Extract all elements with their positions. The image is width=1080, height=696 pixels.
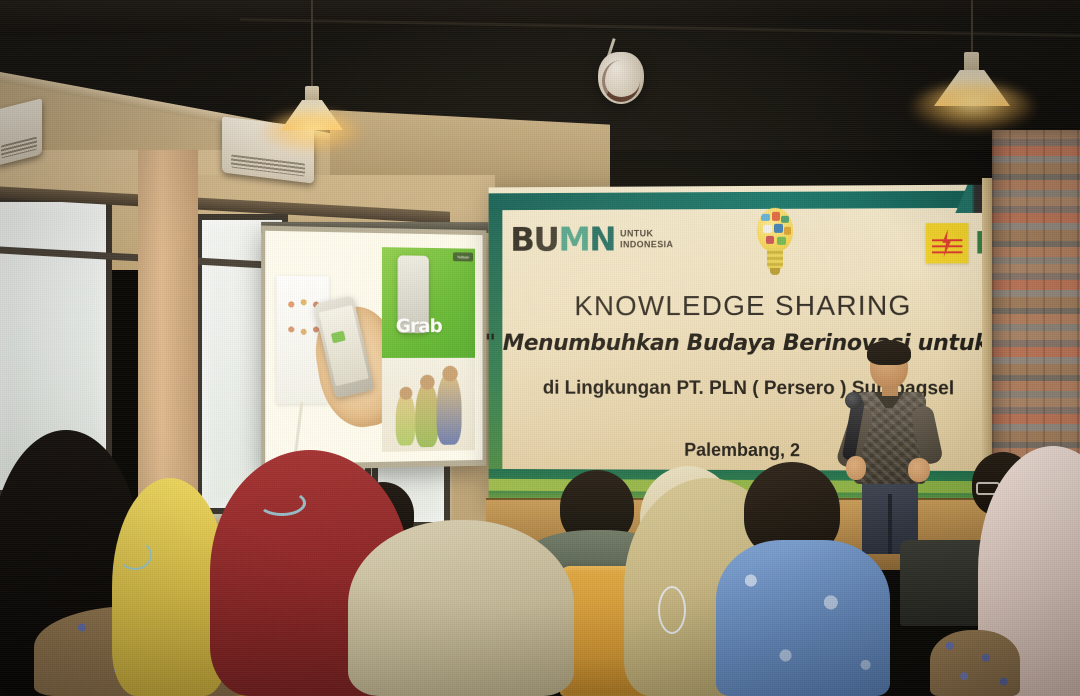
slide-person-a bbox=[396, 392, 416, 446]
bumn-letter-b: B bbox=[510, 225, 533, 255]
bumn-letter-m: M bbox=[558, 225, 589, 255]
attendee-batik-edge bbox=[930, 630, 1020, 696]
air-conditioner-far bbox=[0, 98, 42, 165]
speaker-hair bbox=[867, 340, 911, 365]
slide-grab-panel: Tulisan Grab bbox=[382, 247, 475, 359]
lightbulb-glass bbox=[757, 208, 793, 252]
slide-person-a-head bbox=[400, 387, 413, 400]
attendee-hijab bbox=[348, 520, 574, 696]
slide-person-c bbox=[437, 372, 462, 445]
speaker-left-hand bbox=[846, 456, 866, 480]
speaker-presenter bbox=[836, 344, 944, 552]
bumn-tagline-line1: UNTUK bbox=[620, 229, 673, 240]
pln-logo-box bbox=[926, 223, 969, 263]
slide-people-panel bbox=[382, 358, 475, 452]
slide-grab-tag: Tulisan bbox=[453, 252, 473, 261]
bumn-letter-n: N bbox=[589, 225, 615, 255]
event-photo-scene: Tulisan Grab BUMN UN bbox=[0, 0, 1080, 696]
pendant-neck-right bbox=[964, 52, 979, 72]
banner-title: KNOWLEDGE SHARING bbox=[489, 289, 1000, 322]
bumn-tagline-line2: INDONESIA bbox=[620, 239, 673, 250]
speaker-leg-split bbox=[888, 494, 892, 554]
slide-grab-wordmark: Grab bbox=[396, 315, 442, 337]
pendant-glow-left bbox=[262, 112, 362, 152]
spotlight-rim bbox=[602, 60, 640, 102]
projector-screen: Tulisan Grab bbox=[261, 226, 486, 471]
face-mask-strap bbox=[118, 540, 152, 570]
slide-person-c-head bbox=[442, 366, 457, 382]
bumn-letter-u: U bbox=[533, 225, 558, 255]
lightbulb-tip bbox=[770, 268, 780, 275]
slide-person-b-head bbox=[420, 375, 435, 390]
slide-phone-accent bbox=[331, 330, 347, 343]
face-mask-strap bbox=[258, 490, 306, 516]
lightbulb-base bbox=[767, 248, 783, 270]
presentation-slide: Tulisan Grab bbox=[265, 231, 482, 464]
pendant-neck-left bbox=[305, 86, 319, 102]
face-mask-strap bbox=[658, 586, 686, 634]
speaker-right-hand bbox=[908, 458, 930, 482]
bumn-wordmark: BUMN bbox=[510, 225, 615, 255]
microphone-head-icon bbox=[845, 392, 862, 409]
air-conditioner-vent bbox=[231, 154, 305, 176]
projector-screen-surface: Tulisan Grab bbox=[265, 231, 482, 464]
attendee-batik-shirt bbox=[716, 540, 890, 696]
pendant-glow-right bbox=[912, 84, 1034, 130]
bumn-tagline: UNTUK INDONESIA bbox=[620, 229, 673, 254]
pendant-cord-left bbox=[311, 0, 313, 86]
innovation-lightbulb-icon bbox=[754, 208, 796, 282]
bumn-logo: BUMN UNTUK INDONESIA bbox=[510, 224, 673, 254]
banner-top-stripe bbox=[489, 191, 1000, 211]
slide-person-b bbox=[415, 382, 438, 448]
pendant-cord-right bbox=[971, 0, 973, 52]
air-conditioner-vent bbox=[1, 136, 38, 158]
